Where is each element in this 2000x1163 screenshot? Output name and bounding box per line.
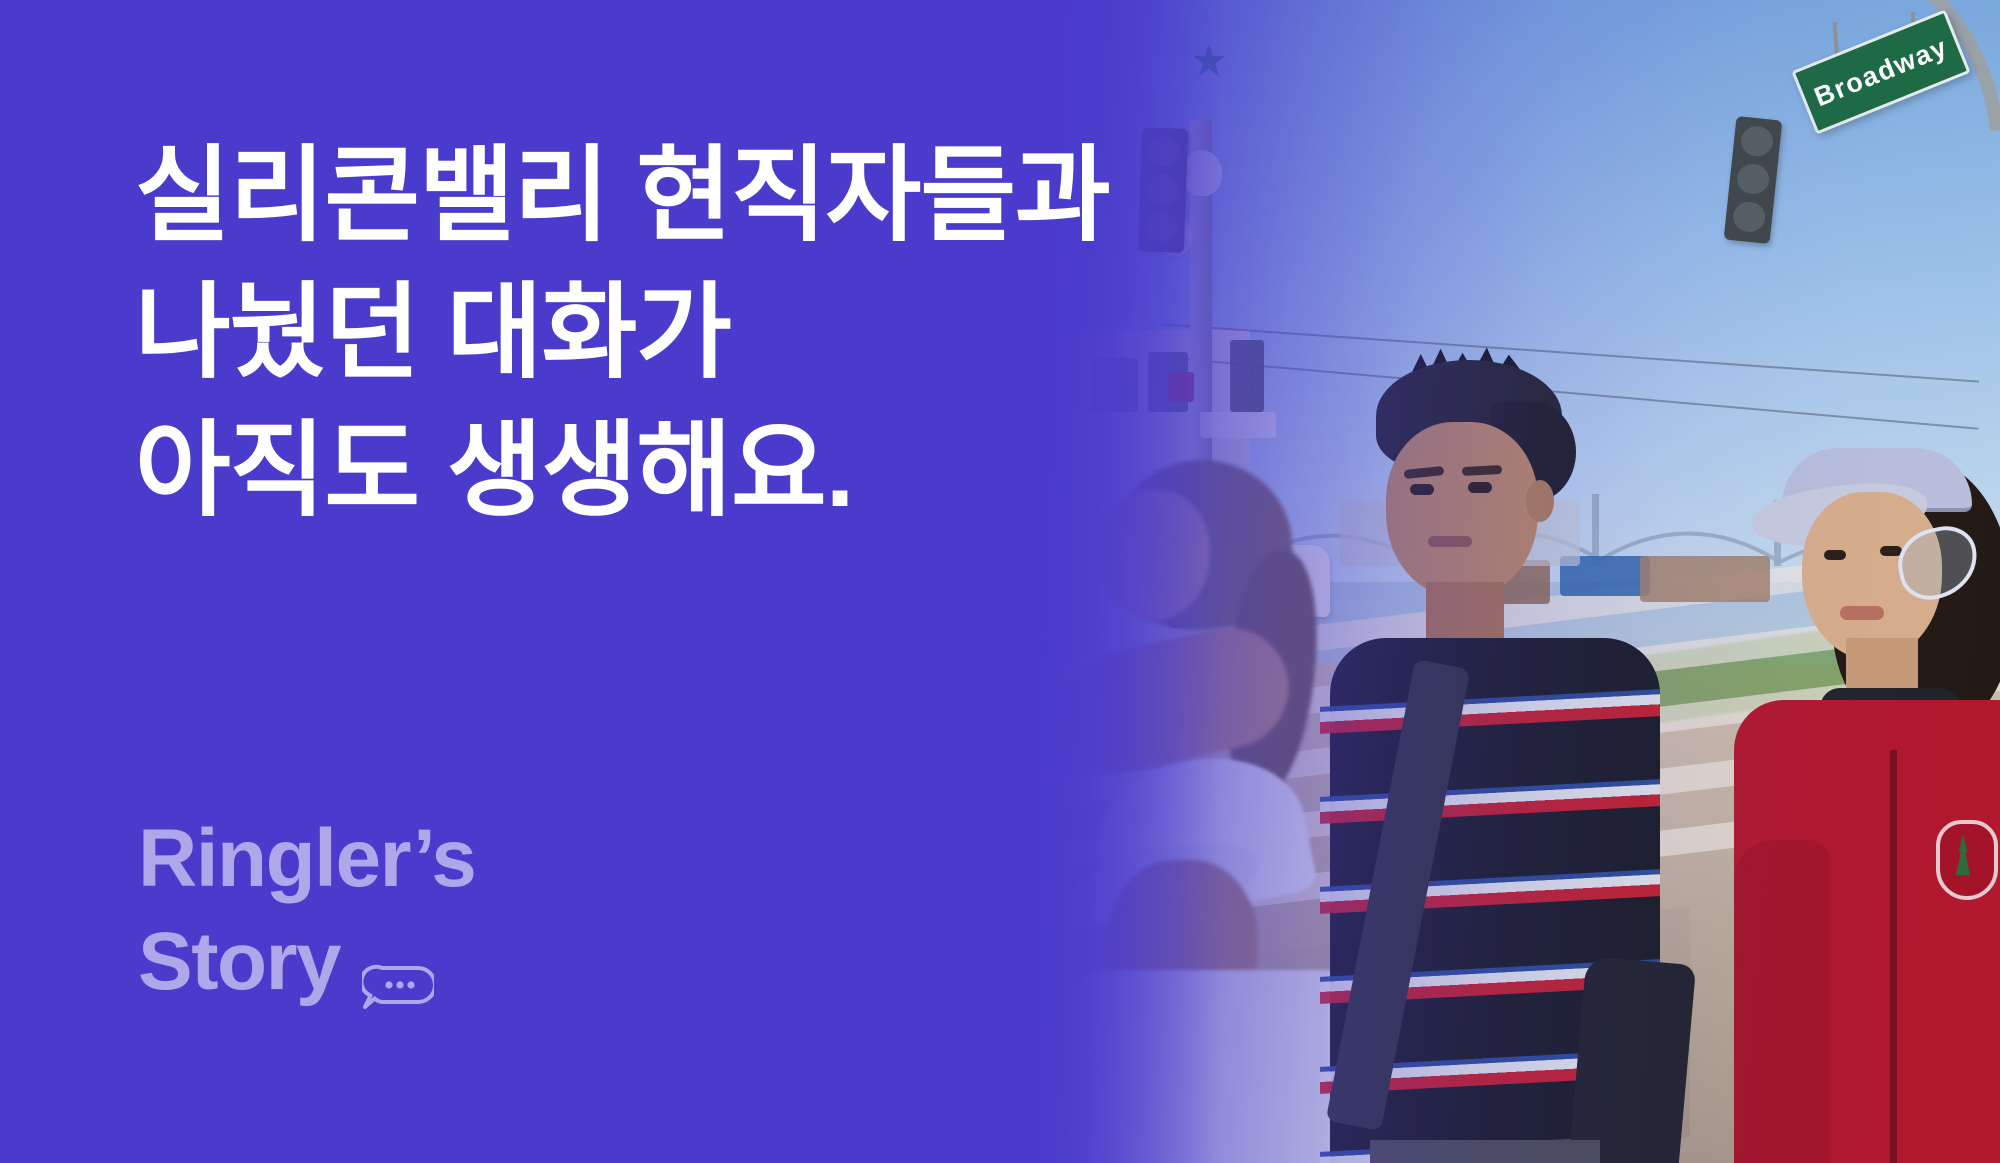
- brand-line-1: Ringler’s: [138, 808, 475, 911]
- brand-label: Ringler’s Story: [138, 808, 475, 1013]
- chat-bubble-icon: [362, 936, 434, 988]
- ear: [1526, 480, 1554, 522]
- traffic-signal-head: [1138, 127, 1188, 253]
- person-woman-red-fleece: [1740, 420, 2000, 1163]
- brand-line-2: Story: [138, 911, 340, 1014]
- hero-photo: Broadway: [1040, 0, 2000, 1163]
- mouth: [1428, 536, 1472, 547]
- person-foreground-blurred: [1060, 430, 1360, 1163]
- arm: [1734, 840, 1830, 1163]
- pants: [1370, 1140, 1600, 1163]
- mouth: [1840, 606, 1884, 620]
- page-title: 실리콘밸리 현직자들과 나눴던 대화가 아직도 생생해요.: [135, 128, 1110, 540]
- face: [1386, 422, 1538, 598]
- person-man-backward-cap: [1340, 350, 1670, 1163]
- eye-right: [1468, 482, 1492, 493]
- eye-left: [1410, 484, 1434, 495]
- pedestrian-signal-hand: [1168, 372, 1194, 402]
- face: [1100, 490, 1210, 620]
- headline-line-1: 실리콘밸리 현직자들과: [135, 128, 1110, 265]
- hero-banner: Broadway: [0, 0, 2000, 1163]
- banner-content: 실리콘밸리 현직자들과 나눴던 대화가 아직도 생생해요. Ringler’s …: [0, 0, 1100, 1163]
- stanford-logo: [1936, 820, 1998, 900]
- eye-left: [1824, 550, 1846, 560]
- jacket-zipper: [1890, 750, 1897, 1163]
- headline-line-2: 나눴던 대화가: [135, 265, 1110, 402]
- pedestrian-signal-box: [1230, 340, 1264, 412]
- headline-line-3: 아직도 생생해요.: [135, 403, 1110, 540]
